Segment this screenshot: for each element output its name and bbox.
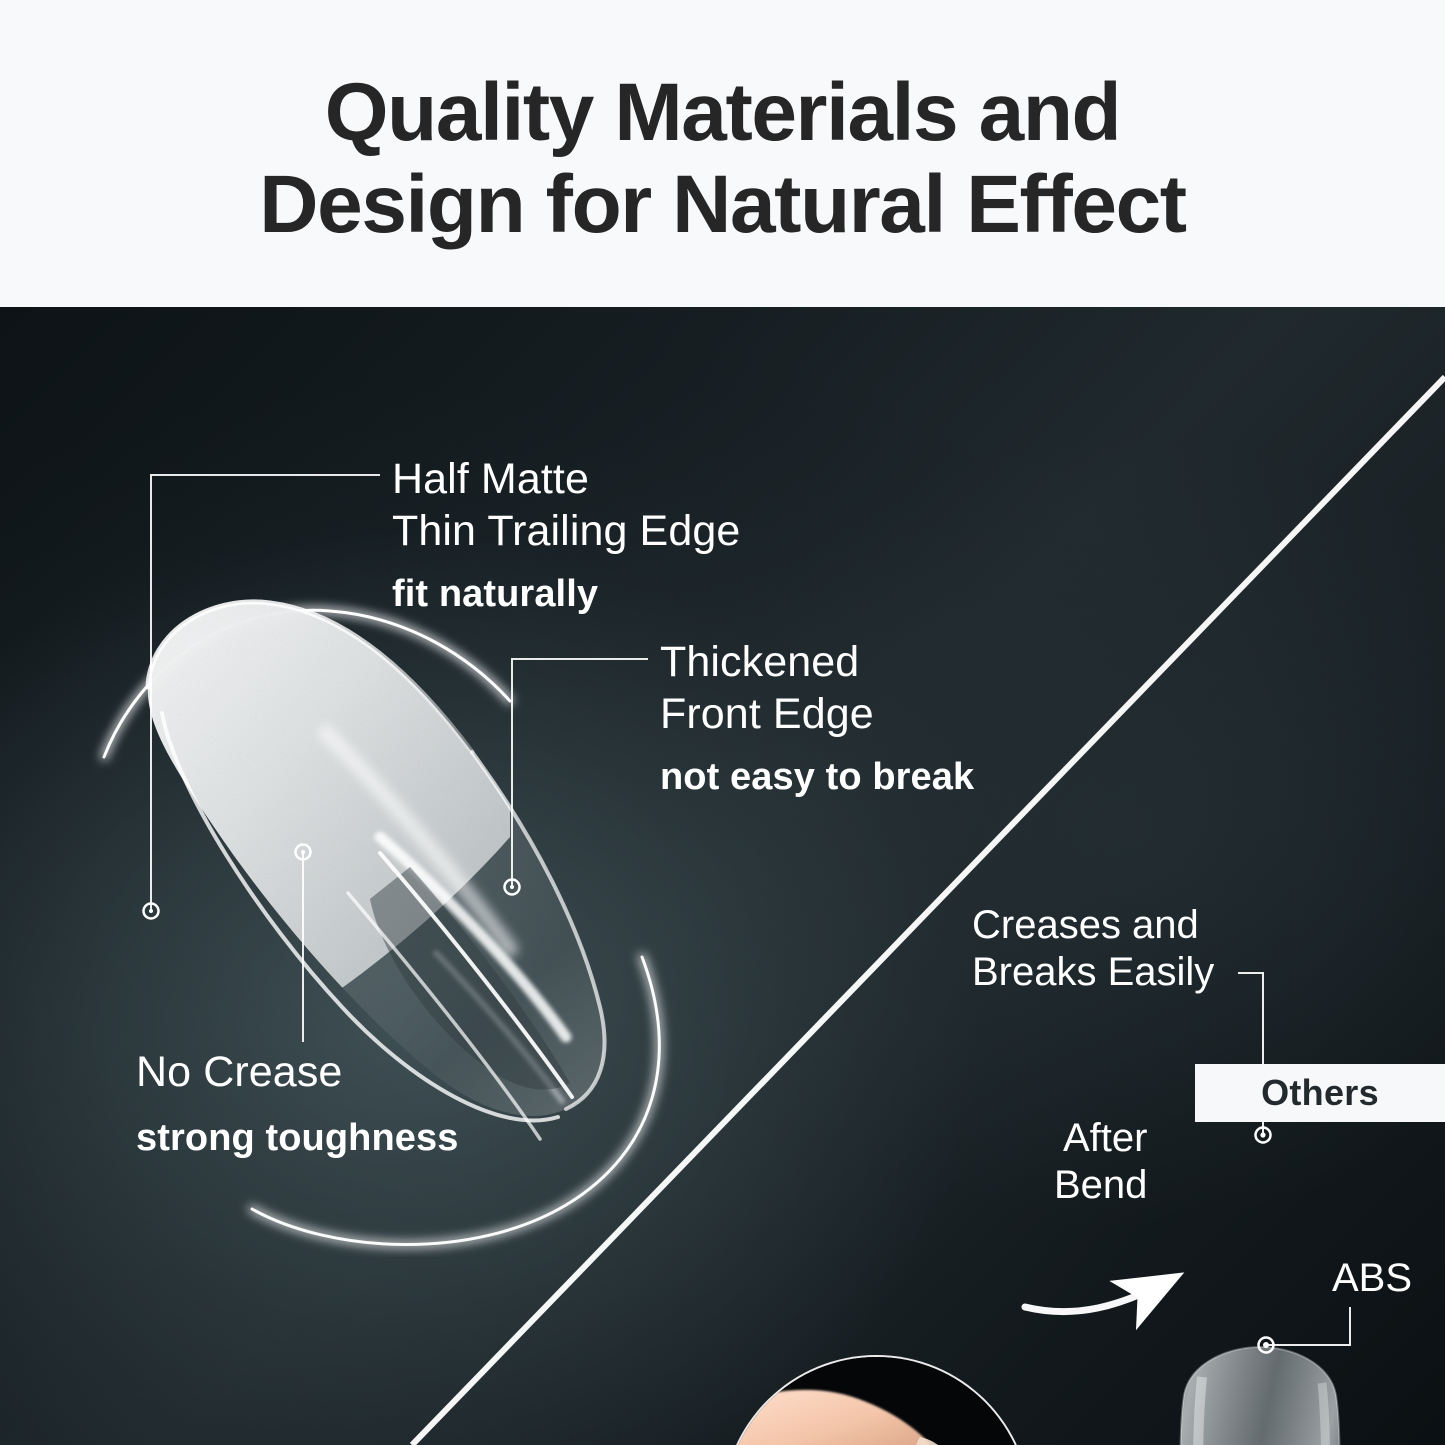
- callout-after-bend-line-2: Bend: [1054, 1162, 1147, 1209]
- callout-creases-breaks: Creases and Breaks Easily: [972, 902, 1214, 996]
- callout-front-edge-title-2: Front Edge: [660, 689, 974, 741]
- callout-front-edge: Thickened Front Edge not easy to break: [660, 637, 974, 802]
- callout-front-edge-title-1: Thickened: [660, 637, 974, 689]
- callout-creases-breaks-line-2: Breaks Easily: [972, 949, 1214, 996]
- callout-no-crease-title-1: No Crease: [136, 1047, 459, 1099]
- callout-creases-breaks-line-1: Creases and: [972, 902, 1214, 949]
- callout-half-matte: Half Matte Thin Trailing Edge fit natura…: [392, 454, 740, 619]
- callout-half-matte-title-1: Half Matte: [392, 454, 740, 506]
- page-title-line-2: Design for Natural Effect: [259, 159, 1185, 251]
- marker-creases-breaks-dot: [1260, 1132, 1265, 1137]
- comparison-panel: Half Matte Thin Trailing Edge fit natura…: [0, 307, 1445, 1445]
- callout-abs-label: ABS: [1332, 1255, 1412, 1302]
- marker-creases-breaks: [1256, 1128, 1271, 1143]
- page-header: Quality Materials and Design for Natural…: [0, 0, 1445, 307]
- bend-photo-image: [724, 1357, 1029, 1445]
- callout-half-matte-title-2: Thin Trailing Edge: [392, 506, 740, 558]
- infographic-page: Quality Materials and Design for Natural…: [0, 0, 1445, 1445]
- abs-nail-illustration: [1150, 1337, 1370, 1445]
- callout-no-crease-subtitle: strong toughness: [136, 1115, 459, 1163]
- callout-no-crease: No Crease strong toughness: [136, 1047, 459, 1162]
- callout-half-matte-subtitle: fit naturally: [392, 571, 740, 619]
- others-badge: Others: [1195, 1064, 1445, 1122]
- callout-front-edge-subtitle: not easy to break: [660, 754, 974, 802]
- callout-after-bend: After Bend: [1054, 1115, 1147, 1209]
- abs-nail-body: [1150, 1337, 1370, 1445]
- page-title-line-1: Quality Materials and: [325, 67, 1120, 159]
- others-badge-label: Others: [1261, 1072, 1379, 1114]
- after-bend-arrow: [1025, 1279, 1172, 1312]
- bend-photo-circle: [722, 1355, 1031, 1445]
- callout-abs: ABS: [1332, 1255, 1412, 1302]
- abs-nail-graphic: [1150, 1337, 1370, 1445]
- callout-after-bend-line-1: After: [1054, 1115, 1147, 1162]
